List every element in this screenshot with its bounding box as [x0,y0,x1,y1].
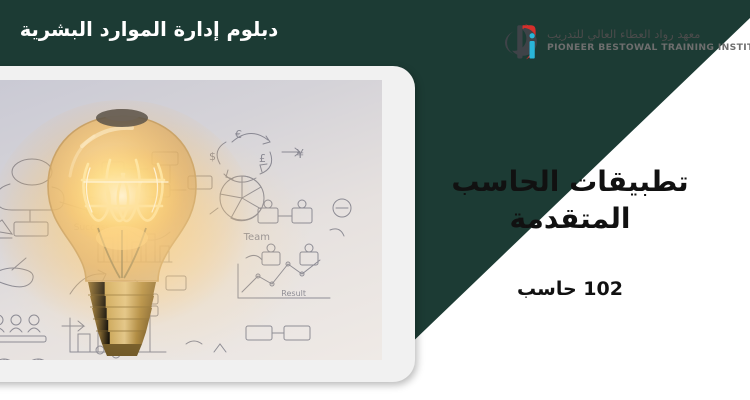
institute-logo: معهد رواد العطاء العالي للتدريب PIONEER … [498,20,750,62]
course-title: تطبيقات الحاسب المتقدمة [420,163,720,237]
course-title-line-2: المتقدمة [420,200,720,237]
light-bulb-icon [0,80,382,360]
slide-canvas: Success [0,0,750,400]
bottom-white-strip [0,382,750,400]
diploma-heading: دبلوم إدارة الموارد البشرية [14,18,284,42]
course-title-line-1: تطبيقات الحاسب [420,163,720,200]
institute-name-english: PIONEER BESTOWAL TRAINING INSTITUTE [547,43,750,53]
lightbulb-photo: Success [0,80,382,360]
institute-name-arabic: معهد رواد العطاء العالي للتدريب [547,28,700,41]
institute-monogram-icon [498,20,540,62]
photo-card: Success [0,66,415,382]
course-code: 102 حاسب [420,278,720,300]
institute-logo-text: معهد رواد العطاء العالي للتدريب PIONEER … [547,28,750,53]
